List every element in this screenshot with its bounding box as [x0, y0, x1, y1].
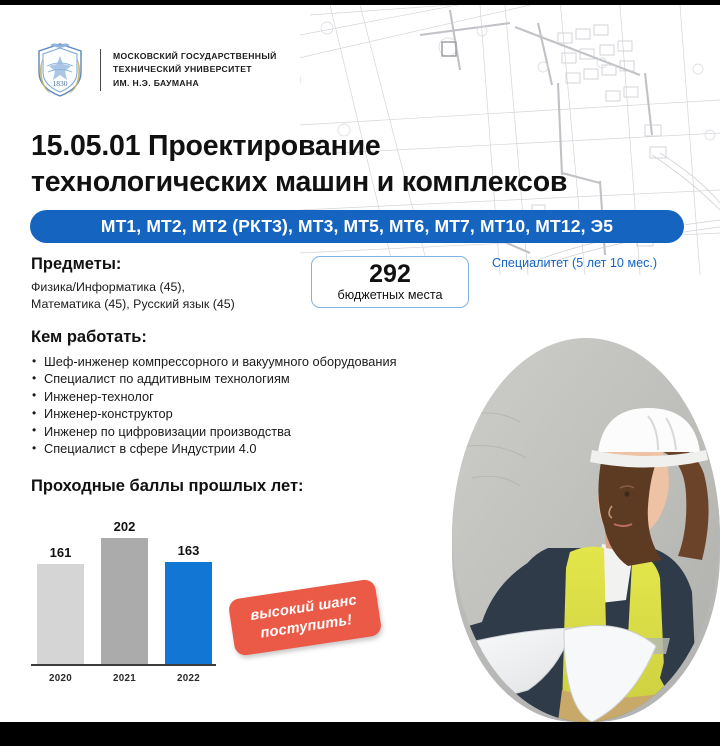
- university-name-line3: ИМ. Н.Э. БАУМАНА: [113, 77, 277, 90]
- bar-rect: [101, 538, 148, 664]
- jobs-block: Кем работать: Шеф-инженер компрессорного…: [31, 328, 397, 457]
- university-name-line2: ТЕХНИЧЕСКИЙ УНИВЕРСИТЕТ: [113, 63, 277, 76]
- bar-rect: [37, 564, 84, 664]
- engineer-photo: [452, 338, 720, 722]
- bar-label: 2020: [37, 673, 84, 684]
- jobs-list: Шеф-инженер компрессорного и вакуумного …: [31, 353, 397, 457]
- bar-label: 2021: [101, 673, 148, 684]
- bar-group: 163 2022: [165, 544, 212, 664]
- bar-group: 161 2020: [37, 546, 84, 664]
- university-header: 1830 МОСКОВСКИЙ ГОСУДАРСТВЕННЫЙ ТЕХНИЧЕС…: [34, 42, 277, 98]
- letterbox-top: [0, 0, 720, 5]
- chart-x-axis: [31, 664, 216, 666]
- engineer-illustration: [452, 338, 720, 722]
- list-item: Инженер-технолог: [31, 388, 397, 405]
- photo-circular-mask: [452, 338, 720, 722]
- subjects-block: Предметы: Физика/Информатика (45), Матем…: [31, 255, 235, 312]
- university-name-line1: МОСКОВСКИЙ ГОСУДАРСТВЕННЫЙ: [113, 50, 277, 63]
- page-title-line1: 15.05.01 Проектирование: [31, 128, 691, 164]
- bar-value: 202: [101, 520, 148, 534]
- chart-title: Проходные баллы прошлых лет:: [31, 477, 304, 496]
- list-item: Специалист в сфере Индустрии 4.0: [31, 440, 397, 457]
- bmstu-shield-emblem-icon: 1830: [34, 42, 86, 98]
- university-name: МОСКОВСКИЙ ГОСУДАРСТВЕННЫЙ ТЕХНИЧЕСКИЙ У…: [113, 50, 277, 90]
- letterbox-bottom: [0, 722, 720, 746]
- bar-rect: [165, 562, 212, 664]
- bar-label: 2022: [165, 673, 212, 684]
- subjects-line2: Математика (45), Русский язык (45): [31, 296, 235, 313]
- budget-places-label: бюджетных места: [338, 288, 443, 302]
- list-item: Инженер по цифровизации производства: [31, 423, 397, 440]
- list-item: Инженер-конструктор: [31, 405, 397, 422]
- page-title-line2: технологических машин и комплексов: [31, 164, 691, 200]
- emblem-year: 1830: [53, 79, 68, 88]
- passing-scores-chart: Проходные баллы прошлых лет: 161 2020 20…: [31, 477, 304, 688]
- poster-canvas: 1830 МОСКОВСКИЙ ГОСУДАРСТВЕННЫЙ ТЕХНИЧЕС…: [0, 0, 720, 746]
- jobs-title: Кем работать:: [31, 328, 397, 347]
- degree-duration-note: Специалитет (5 лет 10 мес.): [492, 256, 657, 270]
- departments-pill: МТ1, МТ2, МТ2 (РКТ3), МТ3, МТ5, МТ6, МТ7…: [30, 210, 684, 243]
- list-item: Специалист по аддитивным технологиям: [31, 370, 397, 387]
- departments-pill-label: МТ1, МТ2, МТ2 (РКТ3), МТ3, МТ5, МТ6, МТ7…: [101, 216, 613, 237]
- subjects-title: Предметы:: [31, 255, 235, 274]
- budget-places-count: 292: [369, 262, 411, 287]
- budget-places-box: 292 бюджетных места: [311, 256, 469, 308]
- list-item: Шеф-инженер компрессорного и вакуумного …: [31, 353, 397, 370]
- bar-value: 161: [37, 546, 84, 560]
- header-divider: [100, 49, 101, 91]
- page-title: 15.05.01 Проектирование технологических …: [31, 128, 691, 200]
- chart-plot-area: 161 2020 202 2021 163 2022: [31, 508, 221, 688]
- bar-group: 202 2021: [101, 520, 148, 664]
- subjects-line1: Физика/Информатика (45),: [31, 279, 235, 296]
- bar-value: 163: [165, 544, 212, 558]
